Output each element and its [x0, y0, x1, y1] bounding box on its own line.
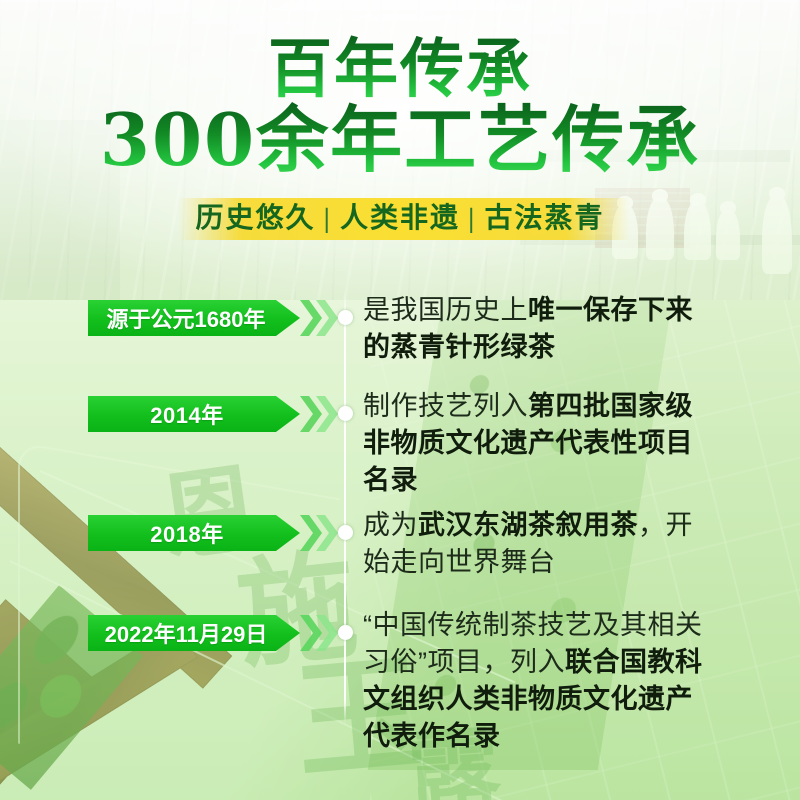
timeline-tag-label: 2022年11月29日	[105, 617, 284, 649]
timeline-description-1: 制作技艺列入第四批国家级非物质文化遗产代表性项目名录	[363, 388, 713, 499]
timeline-dot	[338, 310, 353, 325]
desc-light: 制作技艺列入	[363, 391, 528, 421]
poster-root: 恩 施 玉 露 百年传承 300余年工艺传承 历史悠久|人类非遗|古法蒸青 源于…	[0, 0, 800, 800]
timeline-description-2: 成为武汉东湖茶叙用茶，开始走向世界舞台	[363, 507, 713, 581]
chevron-right-icon	[300, 300, 322, 336]
timeline-tag-2[interactable]: 2018年	[88, 515, 300, 551]
timeline-description-3: “中国传统制茶技艺及其相关习俗”项目，列入联合国教科文组织人类非物质文化遗产代表…	[363, 607, 713, 755]
timeline-dot	[338, 625, 353, 640]
timeline-dot	[338, 406, 353, 421]
timeline-tag-label: 2014年	[150, 398, 237, 430]
desc-bold: 武汉东湖茶叙用茶	[418, 510, 638, 540]
timeline-dot	[338, 525, 353, 540]
timeline-tag-0[interactable]: 源于公元1680年	[88, 300, 300, 336]
desc-light: 成为	[363, 510, 418, 540]
chevron-right-icon	[300, 515, 322, 551]
chevron-right-icon	[300, 396, 322, 432]
timeline-rows: 源于公元1680年 是我国历史上唯一保存下来的蒸青针形绿茶 2014年 制作技艺…	[0, 0, 800, 800]
timeline-tag-3[interactable]: 2022年11月29日	[88, 615, 300, 651]
timeline-tag-label: 源于公元1680年	[107, 302, 282, 334]
desc-light: 是我国历史上	[363, 295, 528, 325]
timeline-description-0: 是我国历史上唯一保存下来的蒸青针形绿茶	[363, 292, 713, 366]
chevron-right-icon	[300, 615, 322, 651]
timeline-tag-1[interactable]: 2014年	[88, 396, 300, 432]
timeline-tag-label: 2018年	[150, 517, 237, 549]
